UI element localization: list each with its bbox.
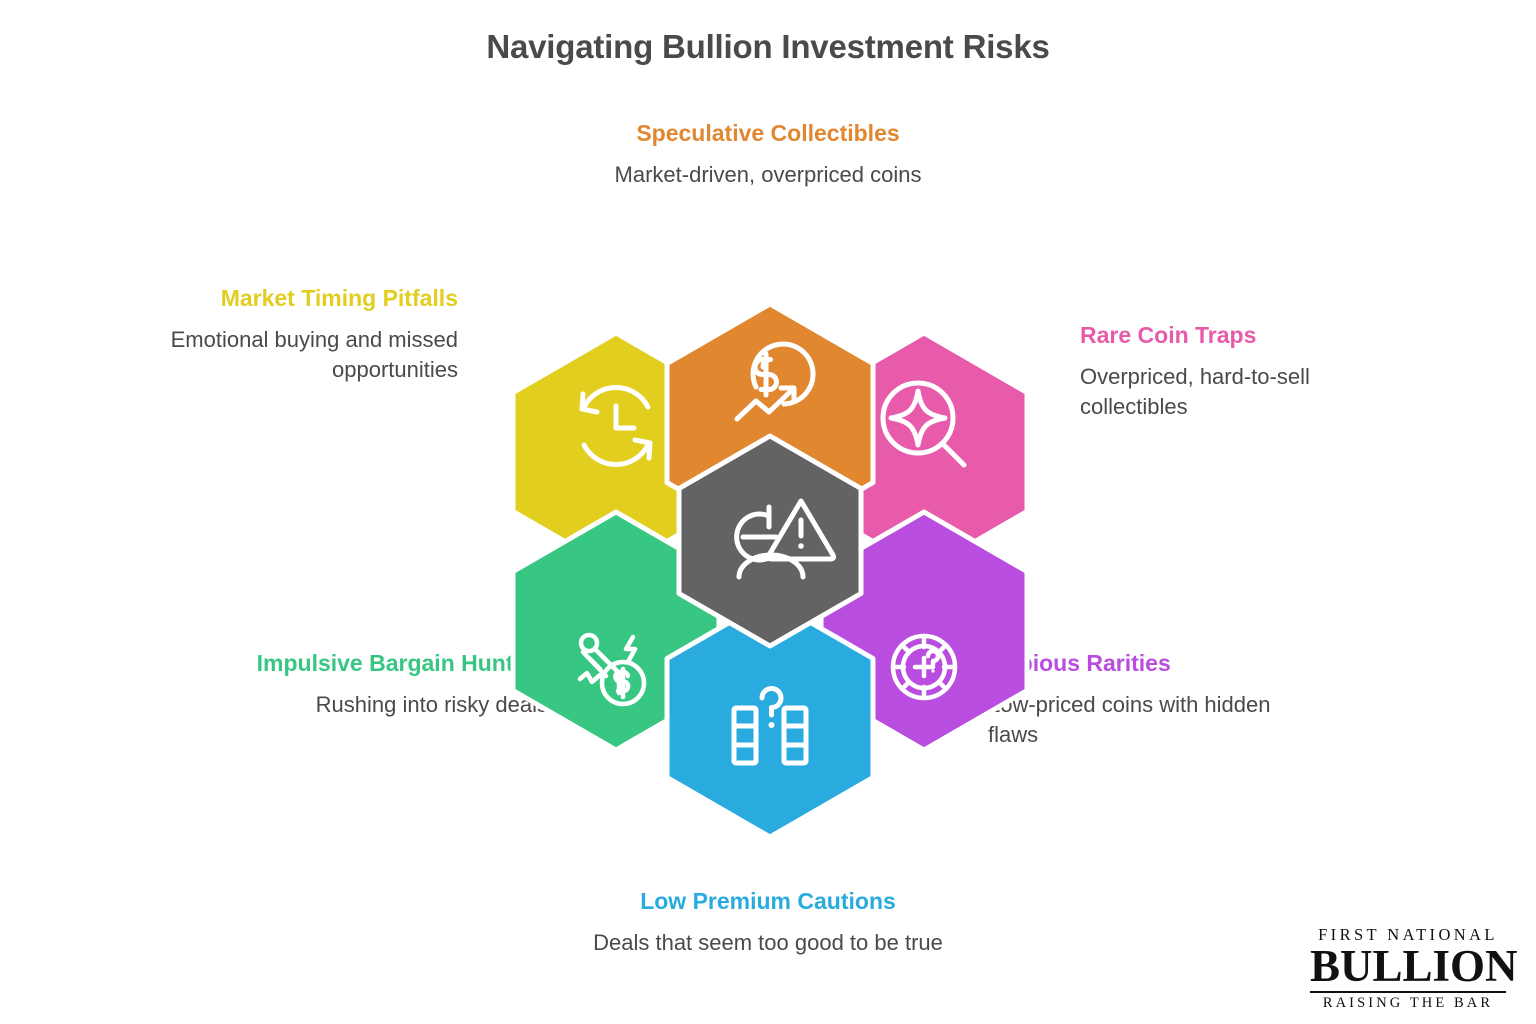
logo-main-text: BULLION: [1310, 944, 1506, 990]
label-desc-speculative: Market-driven, overpriced coins: [518, 160, 1018, 189]
label-market-timing-pitfalls: Market Timing Pitfalls Emotional buying …: [150, 283, 458, 384]
label-desc-rare-coin: Overpriced, hard-to-sell collectibles: [1080, 362, 1410, 421]
label-desc-low-premium: Deals that seem too good to be true: [518, 928, 1018, 957]
label-title-low-premium: Low Premium Cautions: [518, 886, 1018, 916]
label-speculative-collectibles: Speculative Collectibles Market-driven, …: [518, 118, 1018, 190]
hexagon-cluster-diagram: [488, 255, 1052, 855]
label-title-speculative: Speculative Collectibles: [518, 118, 1018, 148]
label-title-market-timing: Market Timing Pitfalls: [150, 283, 458, 313]
label-low-premium-cautions: Low Premium Cautions Deals that seem too…: [518, 886, 1018, 958]
label-rare-coin-traps: Rare Coin Traps Overpriced, hard-to-sell…: [1080, 320, 1410, 421]
casino-chip-question-icon: [893, 636, 955, 698]
brand-logo: FIRST NATIONAL BULLION RAISING THE BAR: [1310, 926, 1506, 1012]
page-title: Navigating Bullion Investment Risks: [0, 28, 1536, 66]
logo-sub-text: RAISING THE BAR: [1310, 996, 1506, 1012]
label-desc-market-timing: Emotional buying and missed opportunitie…: [150, 325, 458, 384]
label-title-rare-coin: Rare Coin Traps: [1080, 320, 1410, 350]
logo-divider: [1310, 991, 1506, 993]
